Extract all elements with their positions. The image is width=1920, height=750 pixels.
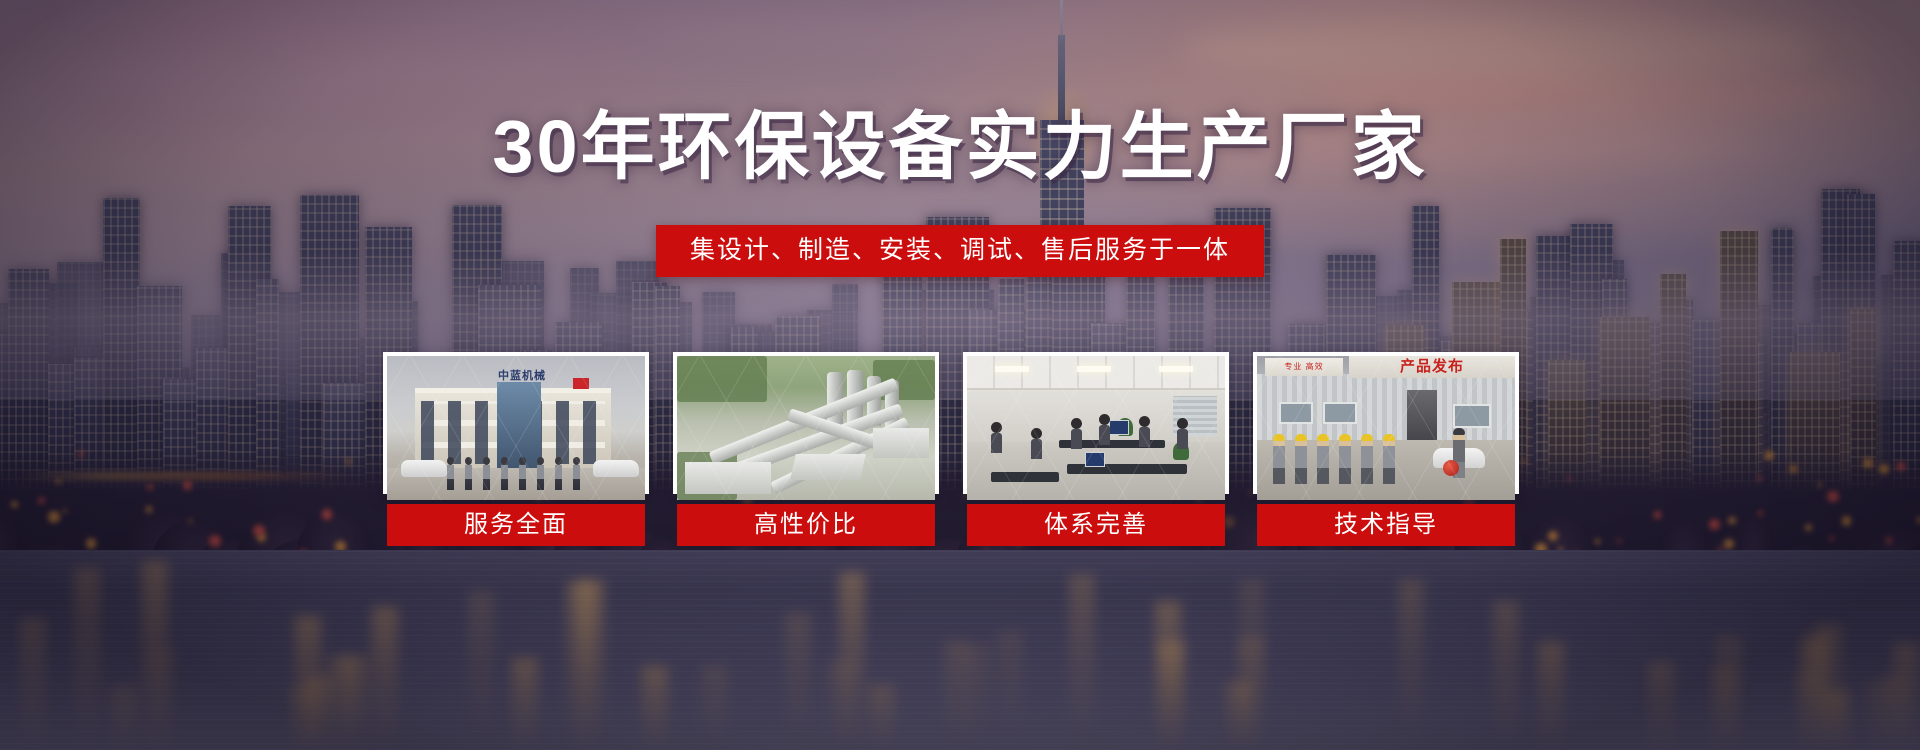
staff-person	[465, 457, 472, 490]
red-helmet	[1443, 460, 1459, 476]
banner-subtitle-text: 集设计、制造、安装、调试、售后服务于一体	[690, 234, 1230, 266]
plant-shed	[790, 454, 866, 480]
person-seated	[1139, 416, 1150, 447]
feature-card[interactable]: 中蓝机械 服务全面	[383, 352, 649, 494]
person-seated	[1031, 428, 1042, 459]
card-photo-office-building: 中蓝机械	[387, 356, 645, 500]
ceiling-light	[995, 366, 1029, 372]
person-seated	[1071, 418, 1082, 449]
worker-person	[1317, 434, 1329, 484]
parked-car	[401, 460, 447, 477]
feature-card[interactable]: 体系完善	[963, 352, 1229, 494]
worker-person	[1383, 434, 1395, 484]
hero-banner: 30年环保设备实力生产厂家 集设计、制造、安装、调试、售后服务于一体 中蓝机械	[0, 0, 1920, 750]
ceiling-light	[1077, 366, 1111, 372]
banner-headline: 30年环保设备实力生产厂家	[0, 104, 1920, 190]
card-label: 技术指导	[1257, 504, 1515, 546]
flag-icon	[573, 378, 589, 389]
monitor-screen	[1109, 420, 1129, 435]
card-photo-office-interior	[967, 356, 1225, 500]
card-photo-industrial-plant	[677, 356, 935, 500]
worker-person	[1273, 434, 1285, 484]
staff-person	[483, 457, 490, 490]
worker-person	[1361, 434, 1373, 484]
staff-person	[519, 457, 526, 490]
card-photo-factory-yard: 产品发布 专业 高效	[1257, 356, 1515, 500]
worker-person	[1339, 434, 1351, 484]
person-seated	[991, 422, 1002, 453]
parked-car	[593, 460, 639, 477]
plant-shed	[873, 428, 929, 458]
banner-subtitle-bar: 集设计、制造、安装、调试、售后服务于一体	[656, 225, 1264, 277]
factory-doorway	[1407, 390, 1437, 442]
building-sign-text: 中蓝机械	[477, 370, 567, 383]
meeting-desk	[991, 472, 1059, 482]
factory-banner-text: 产品发布	[1349, 356, 1515, 378]
feature-card[interactable]: 高性价比	[673, 352, 939, 494]
person-seated	[1099, 414, 1110, 445]
card-label: 高性价比	[677, 504, 935, 546]
worker-person	[1295, 434, 1307, 484]
ceiling-light	[1159, 366, 1193, 372]
card-label: 体系完善	[967, 504, 1225, 546]
staff-person	[573, 457, 580, 490]
vegetation-area	[677, 356, 767, 402]
staff-person	[537, 457, 544, 490]
staff-person	[501, 457, 508, 490]
card-label: 服务全面	[387, 504, 645, 546]
factory-window	[1453, 404, 1491, 428]
feature-card-list: 中蓝机械 服务全面	[383, 352, 1539, 494]
person-seated	[1177, 418, 1188, 449]
feature-card[interactable]: 产品发布 专业 高效	[1253, 352, 1519, 494]
plant-shed	[685, 462, 771, 494]
staff-person	[447, 457, 454, 490]
banner-content: 30年环保设备实力生产厂家 集设计、制造、安装、调试、售后服务于一体 中蓝机械	[0, 0, 1920, 750]
factory-slogan-text: 专业 高效	[1265, 358, 1343, 376]
factory-window	[1279, 402, 1313, 424]
office-ceiling	[967, 356, 1225, 390]
staff-person	[555, 457, 562, 490]
factory-window	[1323, 402, 1357, 424]
monitor-screen	[1085, 452, 1105, 467]
